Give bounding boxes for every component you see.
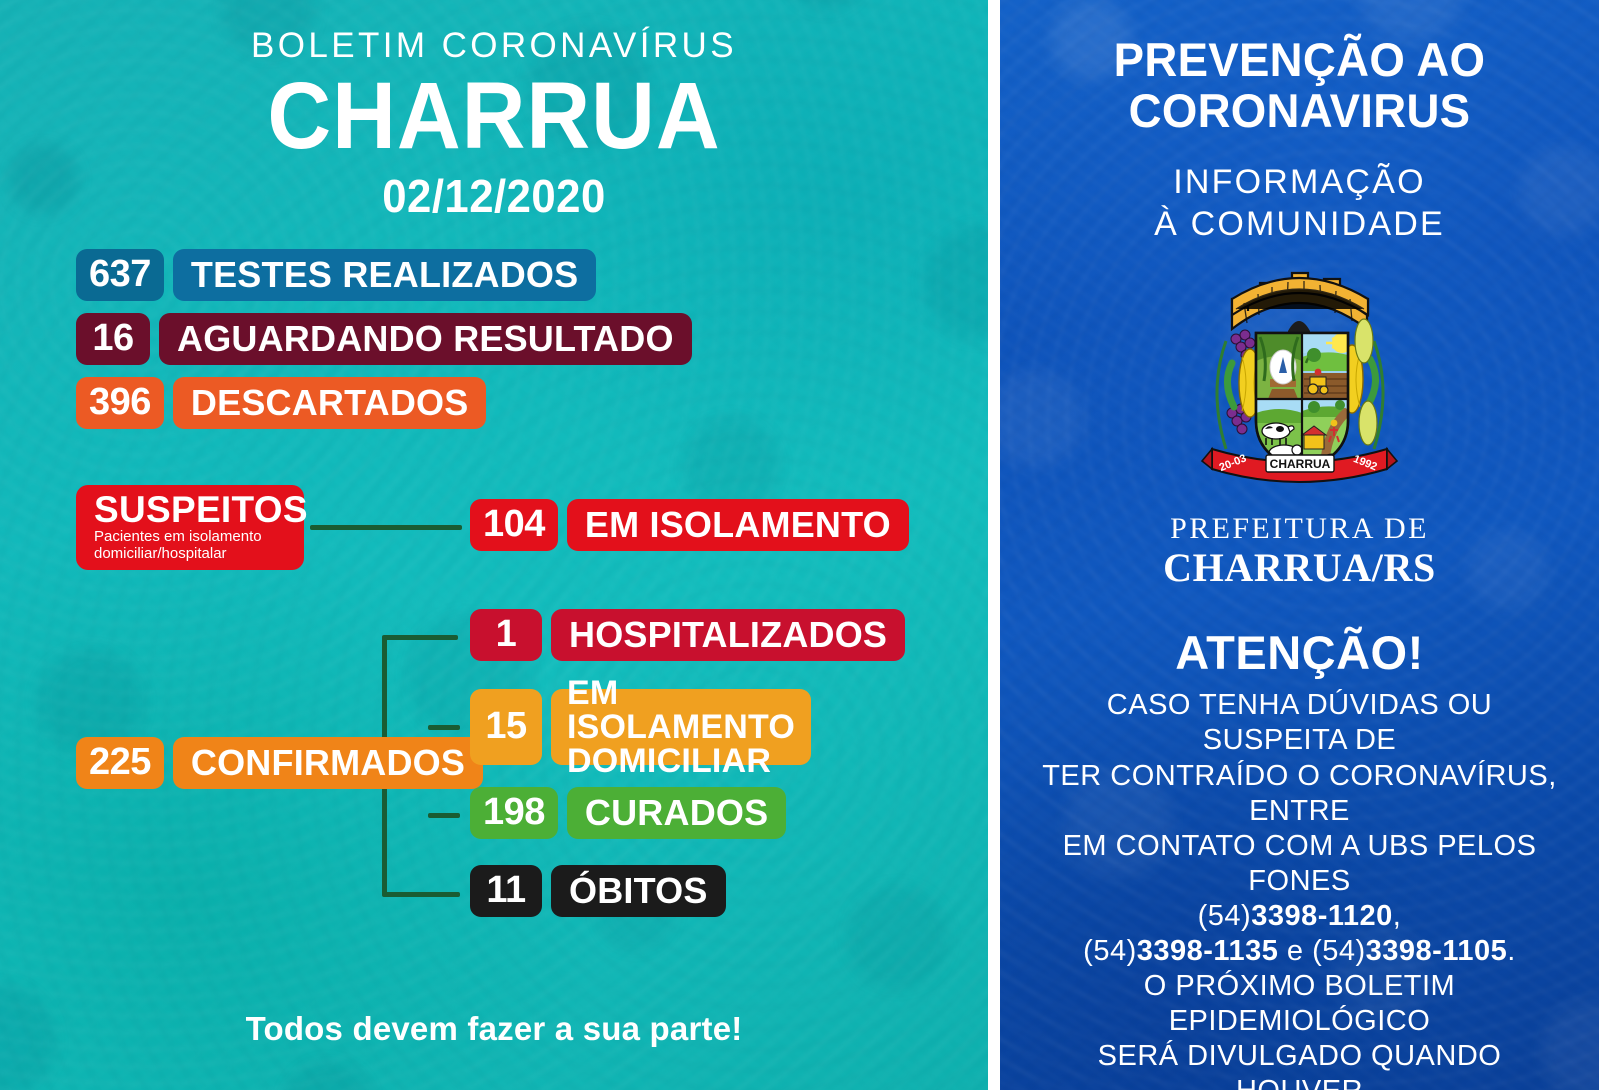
page-title: CHARRUA [35,68,954,165]
coat-of-arms-svg: CHARRUA 20-03 1992 [1192,271,1407,496]
stat-row-confirmados: 225 CONFIRMADOS [76,737,483,789]
tree-connector-hospitalizados [382,635,458,640]
panel-divider [988,0,1000,1090]
prevention-title-line2: CORONAVIRUS [1009,85,1590,136]
stat-value-obitos: 11 [470,865,542,917]
tree-connector-isolamento-domiciliar [428,725,460,730]
stat-row-isolamento-domiciliar: 15 EM ISOLAMENTO DOMICILIAR [470,689,811,765]
stat-label-isolamento-domiciliar: EM ISOLAMENTO DOMICILIAR [551,689,811,765]
phone-line-2: (54)3398-1135 e (54)3398-1105. [1030,934,1569,969]
stat-value-curados: 198 [470,787,558,839]
stat-row-testes-realizados: 637 TESTES REALIZADOS [76,249,988,301]
prefeitura-city: CHARRUA/RS [1000,544,1599,591]
stat-row-descartados: 396 DESCARTADOS [76,377,988,429]
stat-label-confirmados: CONFIRMADOS [173,737,483,789]
prevention-subtitle: INFORMAÇÃO À COMUNIDADE [1000,162,1599,245]
body-line-1: CASO TENHA DÚVIDAS OU SUSPEITA DE [1030,688,1569,758]
body-line-4: O PRÓXIMO BOLETIM EPIDEMIOLÓGICO [1030,969,1569,1039]
prevention-subtitle-line2: À COMUNIDADE [1000,204,1599,245]
stat-value-confirmados: 225 [76,737,164,789]
phone-line-1: (54)3398-1120, [1030,899,1569,934]
body-line-5: SERÁ DIVULGADO QUANDO HOUVER [1030,1039,1569,1090]
bulletin-panel: BOLETIM CORONAVÍRUS CHARRUA 02/12/2020 6… [0,0,988,1090]
covid-bulletin-poster: BOLETIM CORONAVÍRUS CHARRUA 02/12/2020 6… [0,0,1599,1090]
phone-3-number: 3398-1105 [1366,935,1508,967]
stat-value-descartados: 396 [76,377,164,429]
prevention-subtitle-line1: INFORMAÇÃO [1000,162,1599,203]
phone-2-prefix: (54) [1083,935,1137,967]
bulletin-header: BOLETIM CORONAVÍRUS CHARRUA 02/12/2020 [0,0,988,223]
suspeitos-card: SUSPEITOS Pacientes em isolamento domici… [76,485,304,571]
prevention-title: PREVENÇÃO AO CORONAVIRUS [1009,0,1590,136]
mural-crown-icon [1232,273,1368,333]
suspeitos-connector [310,525,462,530]
stat-label-descartados: DESCARTADOS [173,377,487,429]
prevention-title-line1: PREVENÇÃO AO [1009,34,1590,85]
tree-connector-obitos [382,892,460,897]
suspeitos-section: SUSPEITOS Pacientes em isolamento domici… [0,485,988,571]
stat-value-testes: 637 [76,249,164,301]
suspeitos-subtitle-line1: Pacientes em isolamento [94,529,294,545]
prefeitura-label: PREFEITURA DE [1000,512,1599,546]
stat-label-curados: CURADOS [567,787,786,839]
stat-value-em-isolamento: 104 [470,499,558,551]
phone-1-prefix: (54) [1198,900,1252,932]
crest-ribbon-center: CHARRUA [1270,457,1331,471]
attention-heading: ATENÇÃO! [1000,625,1599,680]
phone-2-number: 3398-1135 [1137,935,1279,967]
prevention-body-text: CASO TENHA DÚVIDAS OU SUSPEITA DE TER CO… [1000,688,1599,1090]
confirmados-section: 225 CONFIRMADOS 1 HOSPITALIZADOS 15 EM I… [0,609,988,929]
stat-label-isolamento-domiciliar-line1: EM ISOLAMENTO [567,676,795,744]
suspeitos-subtitle-line2: domiciliar/hospitalar [94,546,294,562]
body-line-2: TER CONTRAÍDO O CORONAVÍRUS, ENTRE [1030,759,1569,829]
stat-value-isolamento-domiciliar: 15 [470,689,542,765]
body-line-3: EM CONTATO COM A UBS PELOS FONES [1030,829,1569,899]
bulletin-date: 02/12/2020 [25,169,964,223]
stat-label-em-isolamento: EM ISOLAMENTO [567,499,909,551]
phone-3-prefix: (54) [1312,935,1366,967]
stat-label-testes: TESTES REALIZADOS [173,249,596,301]
charrua-coat-of-arms: CHARRUA 20-03 1992 [1192,271,1407,496]
suspeitos-title: SUSPEITOS [94,491,294,528]
stat-row-curados: 198 CURADOS [470,787,786,839]
stat-value-hospitalizados: 1 [470,609,542,661]
stat-row-aguardando-resultado: 16 AGUARDANDO RESULTADO [76,313,988,365]
stat-label-aguardando: AGUARDANDO RESULTADO [159,313,692,365]
phone-1-number: 3398-1120 [1251,900,1393,932]
tree-connector-curados [428,813,460,818]
quartered-shield-icon [1256,333,1352,471]
stat-label-isolamento-domiciliar-line2: DOMICILIAR [567,744,795,778]
stat-row-em-isolamento: 104 EM ISOLAMENTO [470,499,909,551]
stat-value-aguardando: 16 [76,313,150,365]
summary-stat-list: 637 TESTES REALIZADOS 16 AGUARDANDO RESU… [0,249,988,429]
stat-label-hospitalizados: HOSPITALIZADOS [551,609,905,661]
prevention-panel: PREVENÇÃO AO CORONAVIRUS INFORMAÇÃO À CO… [1000,0,1599,1090]
bulletin-tagline: Todos devem fazer a sua parte! [0,1010,988,1048]
stat-label-obitos: ÓBITOS [551,865,726,917]
stat-row-hospitalizados: 1 HOSPITALIZADOS [470,609,905,661]
stat-row-obitos: 11 ÓBITOS [470,865,726,917]
phone-conjunction: e [1278,935,1312,967]
bulletin-kicker: BOLETIM CORONAVÍRUS [0,26,988,66]
